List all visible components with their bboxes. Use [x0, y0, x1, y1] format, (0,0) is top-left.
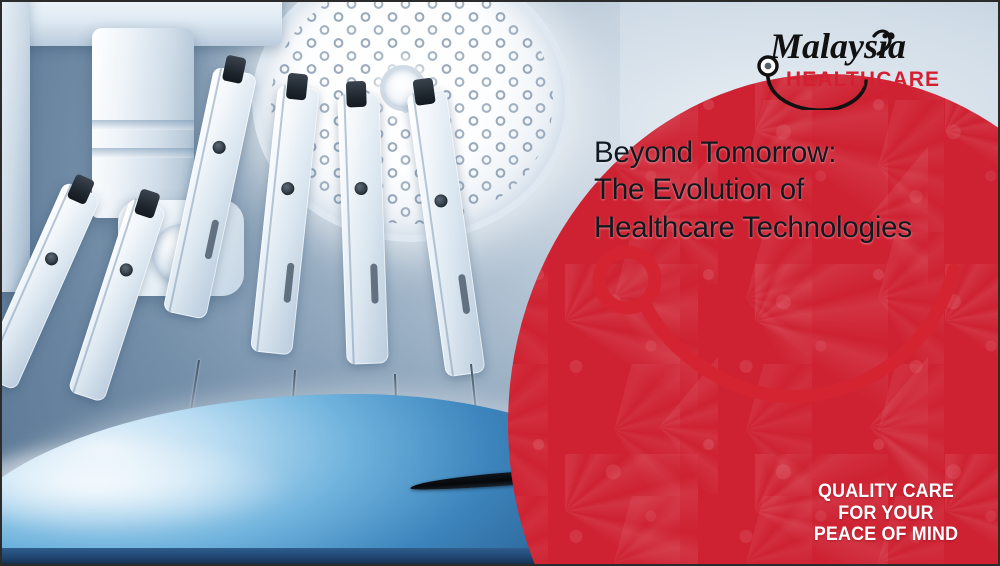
malaysia-healthcare-logo[interactable]: Malaysia HEALTHCARE: [754, 24, 954, 110]
tagline: QUALITY CARE FOR YOUR PEACE OF MIND: [796, 481, 976, 546]
tagline-line-1: QUALITY CARE: [801, 481, 970, 503]
arm-bolt: [434, 194, 449, 209]
robot-pillar: [2, 2, 30, 292]
arm-clamp: [346, 81, 367, 108]
logo-wordmark: HEALTHCARE: [786, 68, 940, 91]
arm-bolt: [211, 140, 226, 155]
headline-line-2: The Evolution of: [594, 171, 994, 208]
headline-line-3: Healthcare Technologies: [594, 209, 994, 246]
drape-highlight: [2, 442, 292, 534]
arm-clamp: [286, 73, 309, 101]
column-ring: [92, 148, 194, 158]
arm-bolt: [354, 182, 367, 195]
page-title: Beyond Tomorrow: The Evolution of Health…: [594, 134, 994, 246]
arm-seam: [343, 95, 354, 365]
tagline-line-3: PEACE OF MIND: [801, 524, 970, 546]
arm-bolt: [281, 181, 295, 195]
arm-slot: [204, 219, 219, 260]
logo-script-word: Malaysia: [769, 26, 906, 66]
arm-slot: [370, 264, 378, 304]
headline-line-1: Beyond Tomorrow:: [594, 134, 994, 171]
arm-clamp: [412, 77, 435, 106]
column-ring: [92, 120, 194, 130]
arm-clamp: [222, 55, 247, 85]
promotional-banner: Malaysia HEALTHCARE Beyond Tomorrow: The…: [0, 0, 1000, 566]
arm-bolt: [118, 262, 134, 278]
arm-slot: [283, 263, 294, 304]
tagline-line-2: FOR YOUR: [801, 503, 970, 525]
arm-bolt: [43, 250, 60, 267]
arm-slot: [458, 274, 470, 315]
